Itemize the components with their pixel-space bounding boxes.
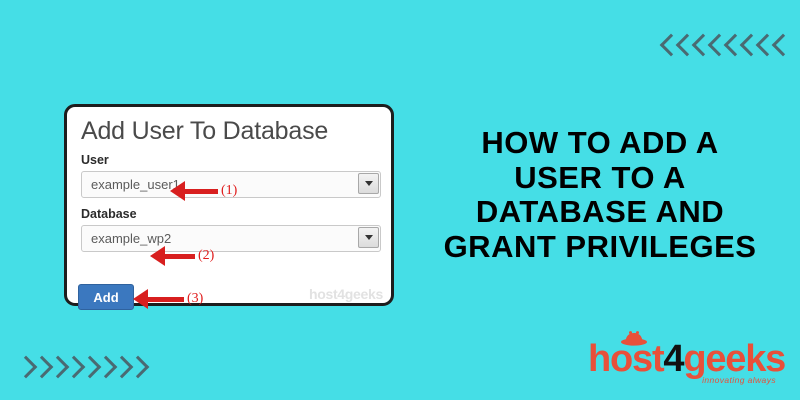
card-title: Add User To Database	[81, 117, 377, 146]
chevron-left-icon	[757, 32, 772, 60]
user-select-row[interactable]: example_user1	[81, 171, 381, 198]
chevron-decoration-bottom-left	[18, 354, 145, 382]
chevron-left-icon	[741, 32, 756, 60]
headline-line-4: GRANT PRIVILEGES	[408, 230, 792, 265]
add-button[interactable]: Add	[78, 284, 134, 310]
headline-line-1: HOW TO ADD A	[408, 126, 792, 161]
headline-line-2: USER TO A	[408, 161, 792, 196]
chevron-left-icon	[725, 32, 740, 60]
user-select[interactable]: example_user1	[81, 171, 381, 198]
host4geeks-logo: host4geeks innovating always	[588, 330, 778, 386]
triangle-glyph	[365, 235, 373, 240]
chevron-down-icon[interactable]	[358, 227, 379, 248]
logo-part-four: 4	[663, 338, 683, 380]
logo-tagline: innovating always	[702, 375, 776, 385]
chevron-decoration-top-right	[661, 32, 788, 60]
chevron-down-icon[interactable]	[358, 173, 379, 194]
user-select-value: example_user1	[91, 177, 180, 192]
database-select-value: example_wp2	[91, 231, 171, 246]
database-field-label: Database	[81, 207, 377, 221]
logo-part-geeks: geeks	[683, 338, 785, 380]
banner-image: Add User To Database User example_user1 …	[0, 0, 800, 400]
headline-line-3: DATABASE AND	[408, 195, 792, 230]
add-user-to-database-card: Add User To Database User example_user1 …	[64, 104, 394, 306]
chevron-left-icon	[773, 32, 788, 60]
chevron-left-icon	[709, 32, 724, 60]
chevron-left-icon	[661, 32, 676, 60]
chevron-right-icon	[130, 354, 145, 382]
user-field-label: User	[81, 153, 377, 167]
page-title: HOW TO ADD A USER TO A DATABASE AND GRAN…	[408, 126, 792, 265]
triangle-glyph	[365, 181, 373, 186]
database-select-row[interactable]: example_wp2	[81, 225, 381, 252]
logo-wordmark: host4geeks	[588, 340, 785, 378]
logo-part-host: host	[588, 338, 663, 380]
chevron-left-icon	[677, 32, 692, 60]
database-select[interactable]: example_wp2	[81, 225, 381, 252]
chevron-left-icon	[693, 32, 708, 60]
host4geeks-watermark: host4geeks	[309, 286, 383, 302]
